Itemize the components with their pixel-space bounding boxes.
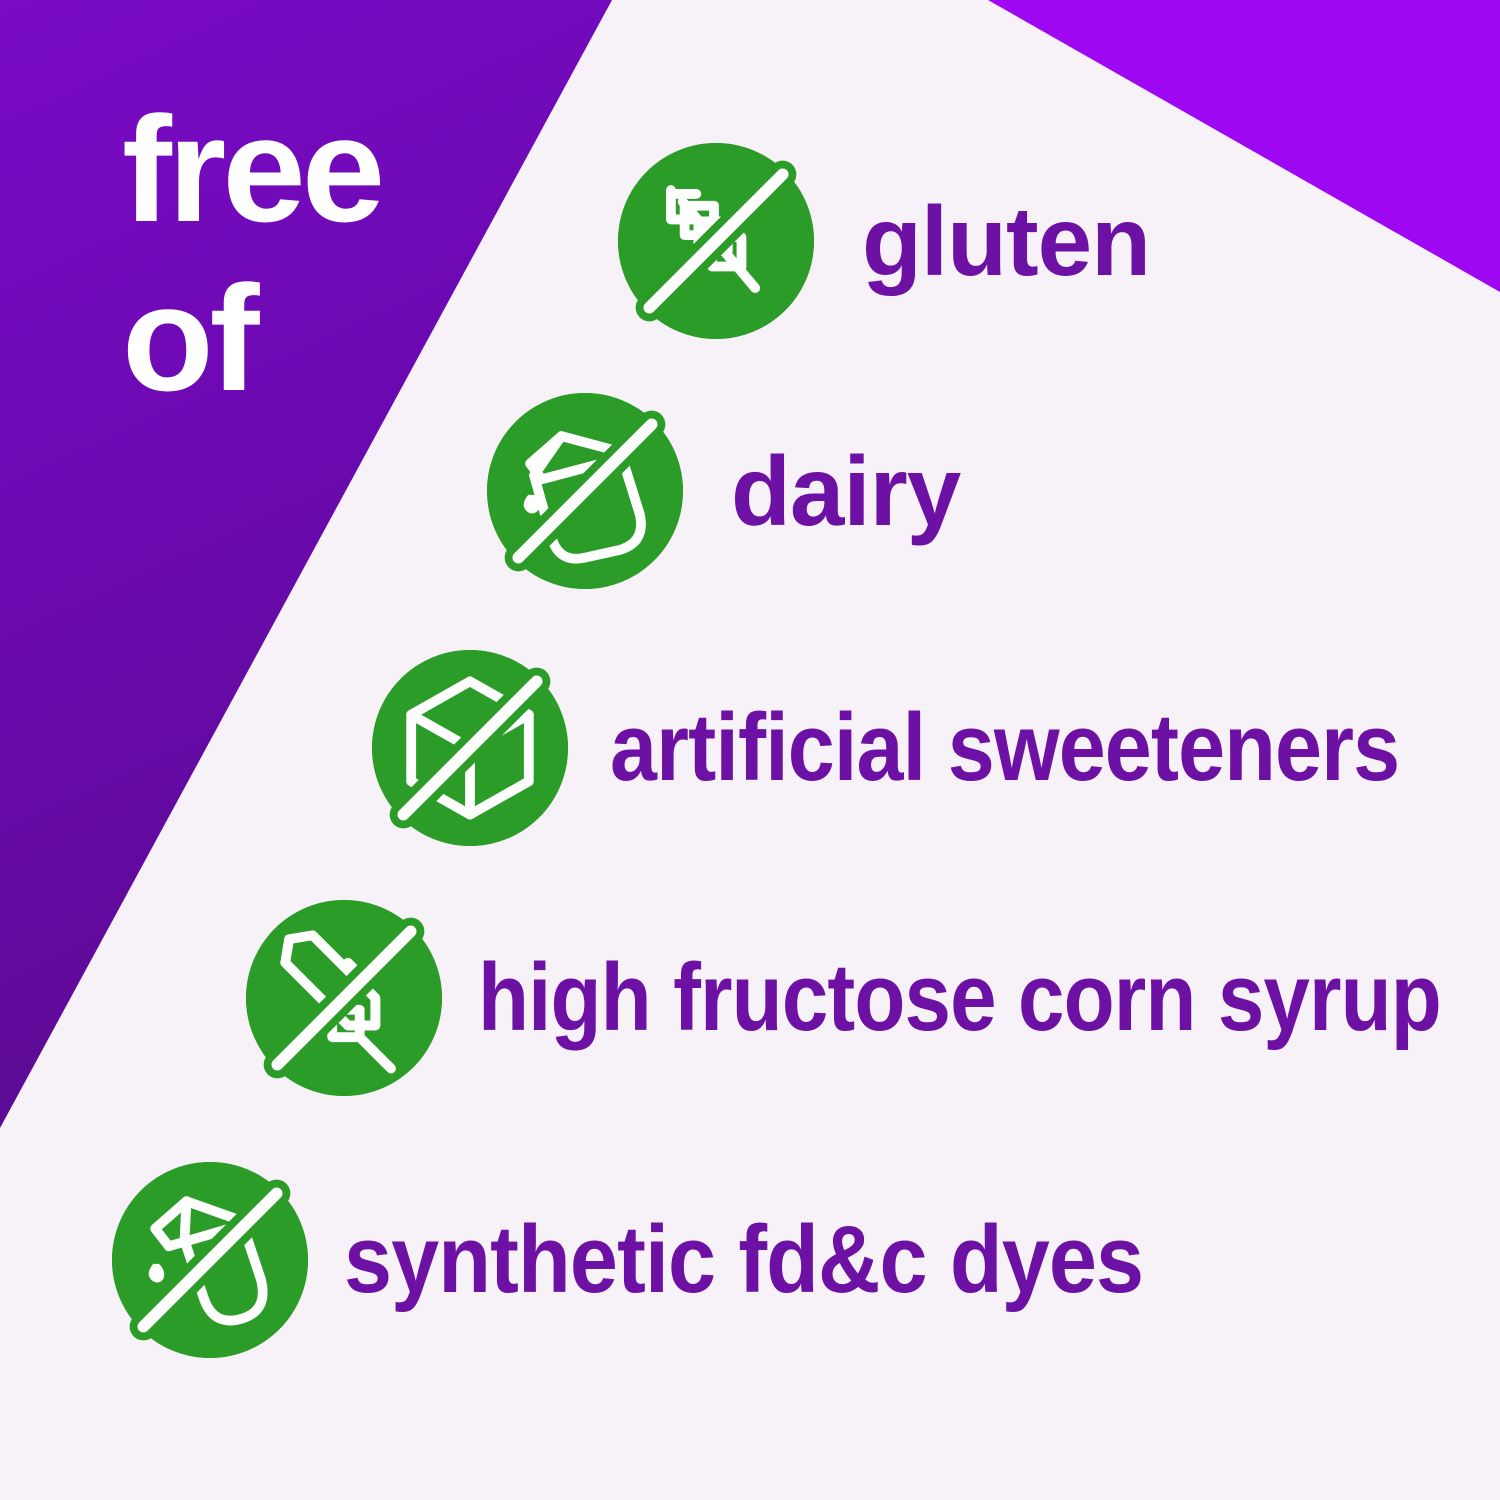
- claim-label-synthetic-fdc-dyes: synthetic fd&c dyes: [344, 1212, 1143, 1308]
- claim-row-artificial-sweeteners: artificial sweeteners: [372, 650, 1500, 846]
- headline: free of: [122, 96, 552, 412]
- headline-line-1: free: [122, 96, 552, 243]
- headline-line-2: of: [122, 265, 552, 412]
- claim-row-gluten: gluten: [618, 143, 1150, 339]
- no-milk-jug-icon: [487, 393, 683, 589]
- free-of-claims-graphic: free of: [0, 0, 1500, 1500]
- claim-label-gluten: gluten: [862, 192, 1150, 290]
- claim-row-high-fructose-corn-syrup: high fructose corn syrup: [246, 900, 1500, 1096]
- claim-row-synthetic-fdc-dyes: synthetic fd&c dyes: [112, 1162, 1232, 1358]
- claim-label-high-fructose-corn-syrup: high fructose corn syrup: [478, 950, 1441, 1046]
- claim-label-artificial-sweeteners: artificial sweeteners: [610, 700, 1399, 796]
- no-sugar-cube-icon: [372, 650, 568, 846]
- claim-row-dairy: dairy: [487, 393, 960, 589]
- no-wheat-icon: [618, 143, 814, 339]
- no-corn-icon: [246, 900, 442, 1096]
- claim-label-dairy: dairy: [731, 442, 960, 540]
- no-test-tube-icon: [112, 1162, 308, 1358]
